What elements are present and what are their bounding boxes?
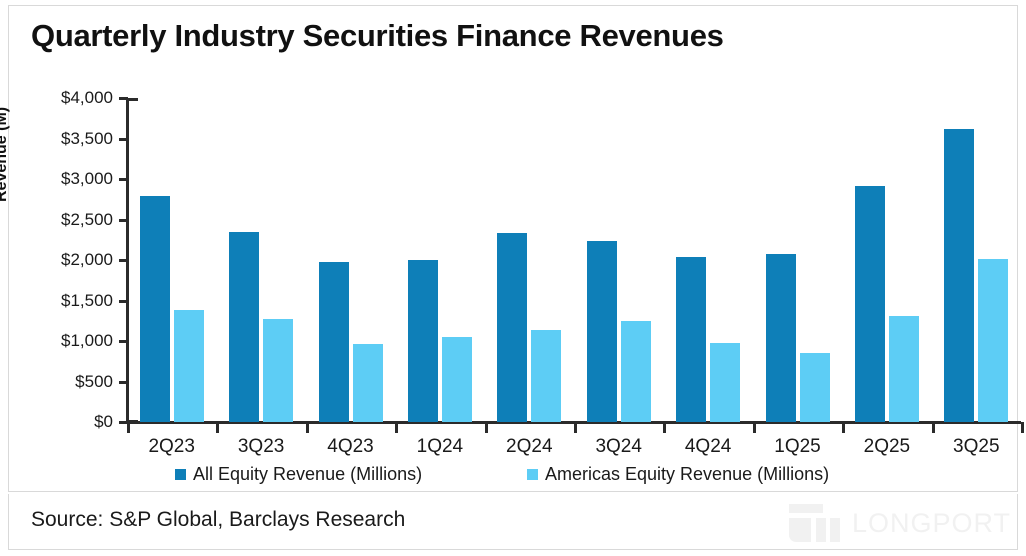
x-axis-tick	[216, 422, 219, 433]
y-axis-tick-label: $1,000	[9, 331, 113, 351]
y-axis-tick-label: $3,500	[9, 129, 113, 149]
bar-2Q25-series2	[889, 316, 919, 422]
longport-logo-icon	[789, 504, 845, 542]
bar-1Q25-series1	[766, 254, 796, 422]
x-axis-tick	[1021, 422, 1024, 433]
x-axis-tick	[932, 422, 935, 433]
legend-item-2[interactable]: Americas Equity Revenue (Millions)	[527, 464, 829, 485]
legend-item-1[interactable]: All Equity Revenue (Millions)	[175, 464, 422, 485]
y-axis-tick-label: $4,000	[9, 88, 113, 108]
x-axis-label-2Q24: 2Q24	[485, 436, 574, 458]
bar-4Q23-series1	[319, 262, 349, 422]
y-axis-tick-label: $3,000	[9, 169, 113, 189]
y-axis-tick-label: $1,500	[9, 291, 113, 311]
bar-4Q23-series2	[353, 344, 383, 422]
longport-watermark: LONGPORT	[789, 502, 1011, 544]
x-axis-label-2Q25: 2Q25	[842, 436, 931, 458]
bar-1Q24-series1	[408, 260, 438, 422]
x-axis-label-3Q23: 3Q23	[216, 436, 305, 458]
x-axis-tick	[485, 422, 488, 433]
plot-area	[127, 98, 1021, 422]
bar-4Q24-series2	[710, 343, 740, 422]
legend-label: All Equity Revenue (Millions)	[193, 464, 422, 485]
bar-3Q25-series1	[944, 129, 974, 422]
chart-screenshot: Quarterly Industry Securities Finance Re…	[0, 0, 1026, 556]
x-axis-tick	[395, 422, 398, 433]
x-axis-tick	[842, 422, 845, 433]
page-title: Quarterly Industry Securities Finance Re…	[31, 18, 724, 54]
bar-1Q24-series2	[442, 337, 472, 422]
y-axis-tick-label: $2,500	[9, 210, 113, 230]
x-axis-label-3Q24: 3Q24	[574, 436, 663, 458]
bar-3Q24-series2	[621, 321, 651, 422]
bar-2Q24-series2	[531, 330, 561, 422]
chart-card: Quarterly Industry Securities Finance Re…	[8, 5, 1018, 492]
y-axis-tick-label: $500	[9, 372, 113, 392]
x-axis-tick	[127, 422, 130, 433]
legend-label: Americas Equity Revenue (Millions)	[545, 464, 829, 485]
bar-3Q25-series2	[978, 259, 1008, 422]
x-axis-label-3Q25: 3Q25	[932, 436, 1021, 458]
bar-3Q24-series1	[587, 241, 617, 422]
bar-2Q25-series1	[855, 186, 885, 422]
y-axis-tick-label: $0	[9, 412, 113, 432]
bar-1Q25-series2	[800, 353, 830, 422]
bar-2Q24-series1	[497, 233, 527, 422]
bar-2Q23-series2	[174, 310, 204, 422]
watermark-label: LONGPORT	[852, 508, 1011, 539]
bar-4Q24-series1	[676, 257, 706, 422]
x-axis-tick	[574, 422, 577, 433]
y-axis-tick-label: $2,000	[9, 250, 113, 270]
bar-3Q23-series1	[229, 232, 259, 422]
source-text: Source: S&P Global, Barclays Research	[31, 508, 405, 532]
x-axis-label-4Q23: 4Q23	[306, 436, 395, 458]
x-axis-label-4Q24: 4Q24	[663, 436, 752, 458]
x-axis-label-2Q23: 2Q23	[127, 436, 216, 458]
source-bar: Source: S&P Global, Barclays Research LO…	[8, 494, 1018, 550]
legend: All Equity Revenue (Millions)Americas Eq…	[127, 464, 917, 492]
x-axis-label-1Q24: 1Q24	[395, 436, 484, 458]
x-axis-label-1Q25: 1Q25	[753, 436, 842, 458]
x-axis-tick	[306, 422, 309, 433]
legend-swatch-icon	[175, 469, 186, 480]
bar-2Q23-series1	[140, 196, 170, 422]
legend-swatch-icon	[527, 469, 538, 480]
bar-3Q23-series2	[263, 319, 293, 422]
x-axis-tick	[663, 422, 666, 433]
x-axis-tick	[753, 422, 756, 433]
